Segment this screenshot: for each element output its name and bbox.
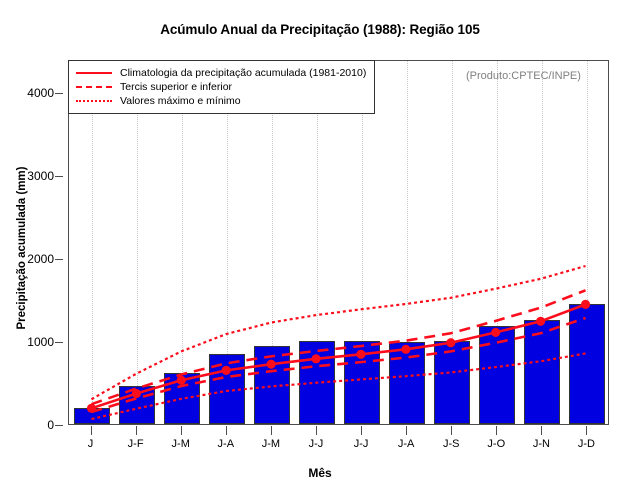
series-line-tercil-superior xyxy=(91,290,585,404)
legend-entry-2: Tercis superior e inferior xyxy=(76,80,366,94)
y-tick-label: 2000 xyxy=(27,252,54,266)
legend-label: Tercis superior e inferior xyxy=(120,81,232,93)
climatology-marker xyxy=(222,366,231,375)
x-tick-label-j-d: J-D xyxy=(578,438,595,450)
x-axis-title: Mês xyxy=(0,466,640,480)
legend-entry-1: Climatologia da precipitação acumulada (… xyxy=(76,66,366,80)
legend-line-dotted-icon xyxy=(76,95,112,107)
x-tick-label-j-o: J-O xyxy=(487,438,505,450)
y-tick-mark xyxy=(55,425,63,426)
legend-label: Valores máximo e mínimo xyxy=(120,95,241,107)
y-tick-label: 3000 xyxy=(27,169,54,183)
x-tick-label-j-m: J-M xyxy=(172,438,190,450)
climatology-marker xyxy=(356,350,365,359)
y-tick-label: 4000 xyxy=(27,86,54,100)
x-tick-label-j: J xyxy=(88,438,94,450)
reference-lines-layer xyxy=(69,61,608,424)
product-annotation: (Produto:CPTEC/INPE) xyxy=(466,70,581,82)
chart-title: Acúmulo Anual da Precipitação (1988): Re… xyxy=(0,22,640,37)
x-tick-label-j-f: J-F xyxy=(128,438,144,450)
climatology-marker xyxy=(446,338,455,347)
x-tick-mark xyxy=(406,426,407,435)
climatology-marker xyxy=(267,360,276,369)
x-tick-label-j-a: J-A xyxy=(218,438,235,450)
y-tick-mark xyxy=(55,259,63,260)
x-tick-mark xyxy=(271,426,272,435)
x-tick-mark xyxy=(586,426,587,435)
y-axis: 01000200030004000 xyxy=(0,0,68,500)
y-tick-mark xyxy=(55,342,63,343)
series-line-tercil-inferior xyxy=(91,318,585,412)
x-tick-label-j-m: J-M xyxy=(262,438,280,450)
climatology-marker xyxy=(87,404,96,413)
legend-label: Climatologia da precipitação acumulada (… xyxy=(120,67,366,79)
x-tick-mark xyxy=(361,426,362,435)
plot-area xyxy=(68,60,609,425)
x-tick-mark xyxy=(316,426,317,435)
chart-figure: Acúmulo Anual da Precipitação (1988): Re… xyxy=(0,0,640,500)
series-line-climatologia-da-precipita-o-acumulada-1981-2010 xyxy=(91,304,585,408)
x-tick-mark xyxy=(541,426,542,435)
x-tick-mark xyxy=(451,426,452,435)
y-tick-label: 1000 xyxy=(27,335,54,349)
x-tick-mark xyxy=(226,426,227,435)
x-tick-label-j-a: J-A xyxy=(398,438,415,450)
legend-line-dashed-icon xyxy=(76,81,112,93)
x-tick-mark xyxy=(136,426,137,435)
climatology-marker xyxy=(536,317,545,326)
legend-entry-3: Valores máximo e mínimo xyxy=(76,94,366,108)
climatology-marker xyxy=(177,376,186,385)
x-tick-label-j-s: J-S xyxy=(443,438,460,450)
climatology-marker xyxy=(401,345,410,354)
x-tick-label-j-j: J-J xyxy=(309,438,324,450)
climatology-marker xyxy=(132,389,141,398)
y-axis-title: Precipitação acumulada (mm) xyxy=(16,98,28,398)
x-tick-mark xyxy=(496,426,497,435)
y-tick-label: 0 xyxy=(47,418,54,432)
x-tick-mark xyxy=(181,426,182,435)
x-tick-label-j-j: J-J xyxy=(354,438,369,450)
x-tick-mark xyxy=(91,426,92,435)
y-tick-mark xyxy=(55,176,63,177)
climatology-marker xyxy=(491,328,500,337)
climatology-marker xyxy=(581,300,590,309)
x-tick-label-j-n: J-N xyxy=(533,438,550,450)
chart-legend: Climatologia da precipitação acumulada (… xyxy=(68,60,375,114)
legend-line-solid-icon xyxy=(76,67,112,79)
y-tick-mark xyxy=(55,93,63,94)
climatology-marker xyxy=(311,354,320,363)
